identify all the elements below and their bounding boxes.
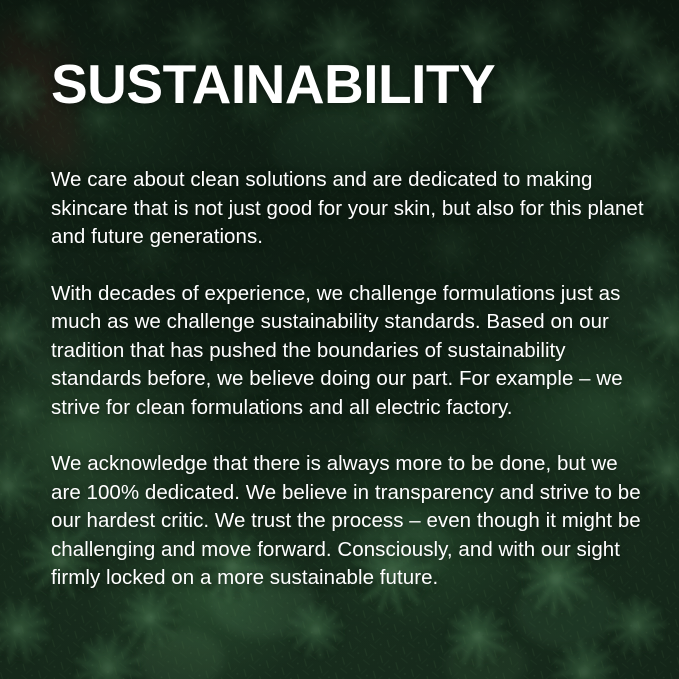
body-paragraph-3: We acknowledge that there is always more… (51, 450, 645, 593)
sustainability-panel: SUSTAINABILITY We care about clean solut… (0, 0, 679, 679)
body-paragraph-2: With decades of experience, we challenge… (51, 280, 645, 423)
body-paragraph-1: We care about clean solutions and are de… (51, 166, 645, 252)
page-title: SUSTAINABILITY (51, 56, 645, 113)
text-content-block: SUSTAINABILITY We care about clean solut… (51, 56, 645, 593)
